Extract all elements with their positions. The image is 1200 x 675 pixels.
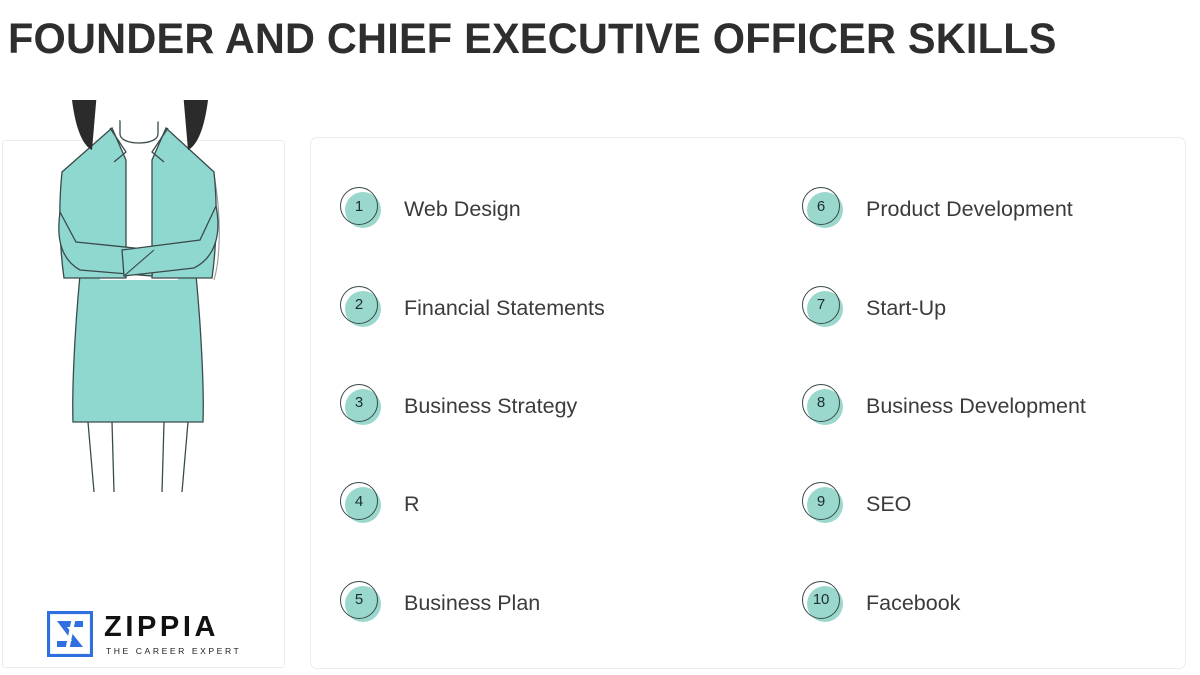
skill-label: Web Design xyxy=(404,196,521,222)
skill-rank-number: 6 xyxy=(802,187,840,225)
skill-item: 6Product Development xyxy=(771,160,1187,258)
skill-label: SEO xyxy=(866,491,911,517)
skill-label: R xyxy=(404,491,420,517)
skills-grid: 1Web Design6Product Development2Financia… xyxy=(311,138,1187,670)
skill-item: 1Web Design xyxy=(311,160,771,258)
skill-item: 5Business Plan xyxy=(311,554,771,652)
skill-item: 9SEO xyxy=(771,455,1187,553)
skill-item: 10Facebook xyxy=(771,554,1187,652)
skill-rank-badge: 7 xyxy=(802,286,846,330)
skill-rank-number: 3 xyxy=(340,384,378,422)
persona-illustration xyxy=(2,100,285,620)
skill-rank-badge: 6 xyxy=(802,187,846,231)
skill-rank-number: 10 xyxy=(802,581,840,619)
skill-item: 8Business Development xyxy=(771,357,1187,455)
skill-rank-badge: 9 xyxy=(802,482,846,526)
skill-label: Facebook xyxy=(866,590,960,616)
skill-rank-badge: 3 xyxy=(340,384,384,428)
skill-rank-number: 4 xyxy=(340,482,378,520)
zippia-z-mark xyxy=(47,611,93,657)
skill-rank-number: 1 xyxy=(340,187,378,225)
infographic-page: FOUNDER AND CHIEF EXECUTIVE OFFICER SKIL… xyxy=(0,0,1200,675)
skill-rank-number: 8 xyxy=(802,384,840,422)
page-title: FOUNDER AND CHIEF EXECUTIVE OFFICER SKIL… xyxy=(8,14,1127,64)
logo-tagline: THE CAREER EXPERT xyxy=(106,645,241,657)
logo-wordmark: ZIPPIA xyxy=(104,612,241,643)
skill-item: 4R xyxy=(311,455,771,553)
skill-rank-number: 7 xyxy=(802,286,840,324)
skill-label: Product Development xyxy=(866,196,1073,222)
skill-rank-badge: 8 xyxy=(802,384,846,428)
skill-item: 2Financial Statements xyxy=(311,258,771,356)
persona-figure xyxy=(59,100,219,492)
skill-label: Business Plan xyxy=(404,590,540,616)
skill-rank-badge: 10 xyxy=(802,581,846,625)
skills-panel: 1Web Design6Product Development2Financia… xyxy=(310,137,1186,669)
skill-rank-badge: 4 xyxy=(340,482,384,526)
skill-item: 7Start-Up xyxy=(771,258,1187,356)
skill-label: Business Development xyxy=(866,393,1086,419)
skill-label: Start-Up xyxy=(866,295,946,321)
skill-rank-number: 9 xyxy=(802,482,840,520)
skill-rank-badge: 5 xyxy=(340,581,384,625)
skill-item: 3Business Strategy xyxy=(311,357,771,455)
skill-rank-badge: 2 xyxy=(340,286,384,330)
zippia-logo: ZIPPIA THE CAREER EXPERT xyxy=(47,611,241,657)
skill-rank-number: 5 xyxy=(340,581,378,619)
skill-rank-badge: 1 xyxy=(340,187,384,231)
skill-rank-number: 2 xyxy=(340,286,378,324)
skill-label: Business Strategy xyxy=(404,393,577,419)
skill-label: Financial Statements xyxy=(404,295,605,321)
